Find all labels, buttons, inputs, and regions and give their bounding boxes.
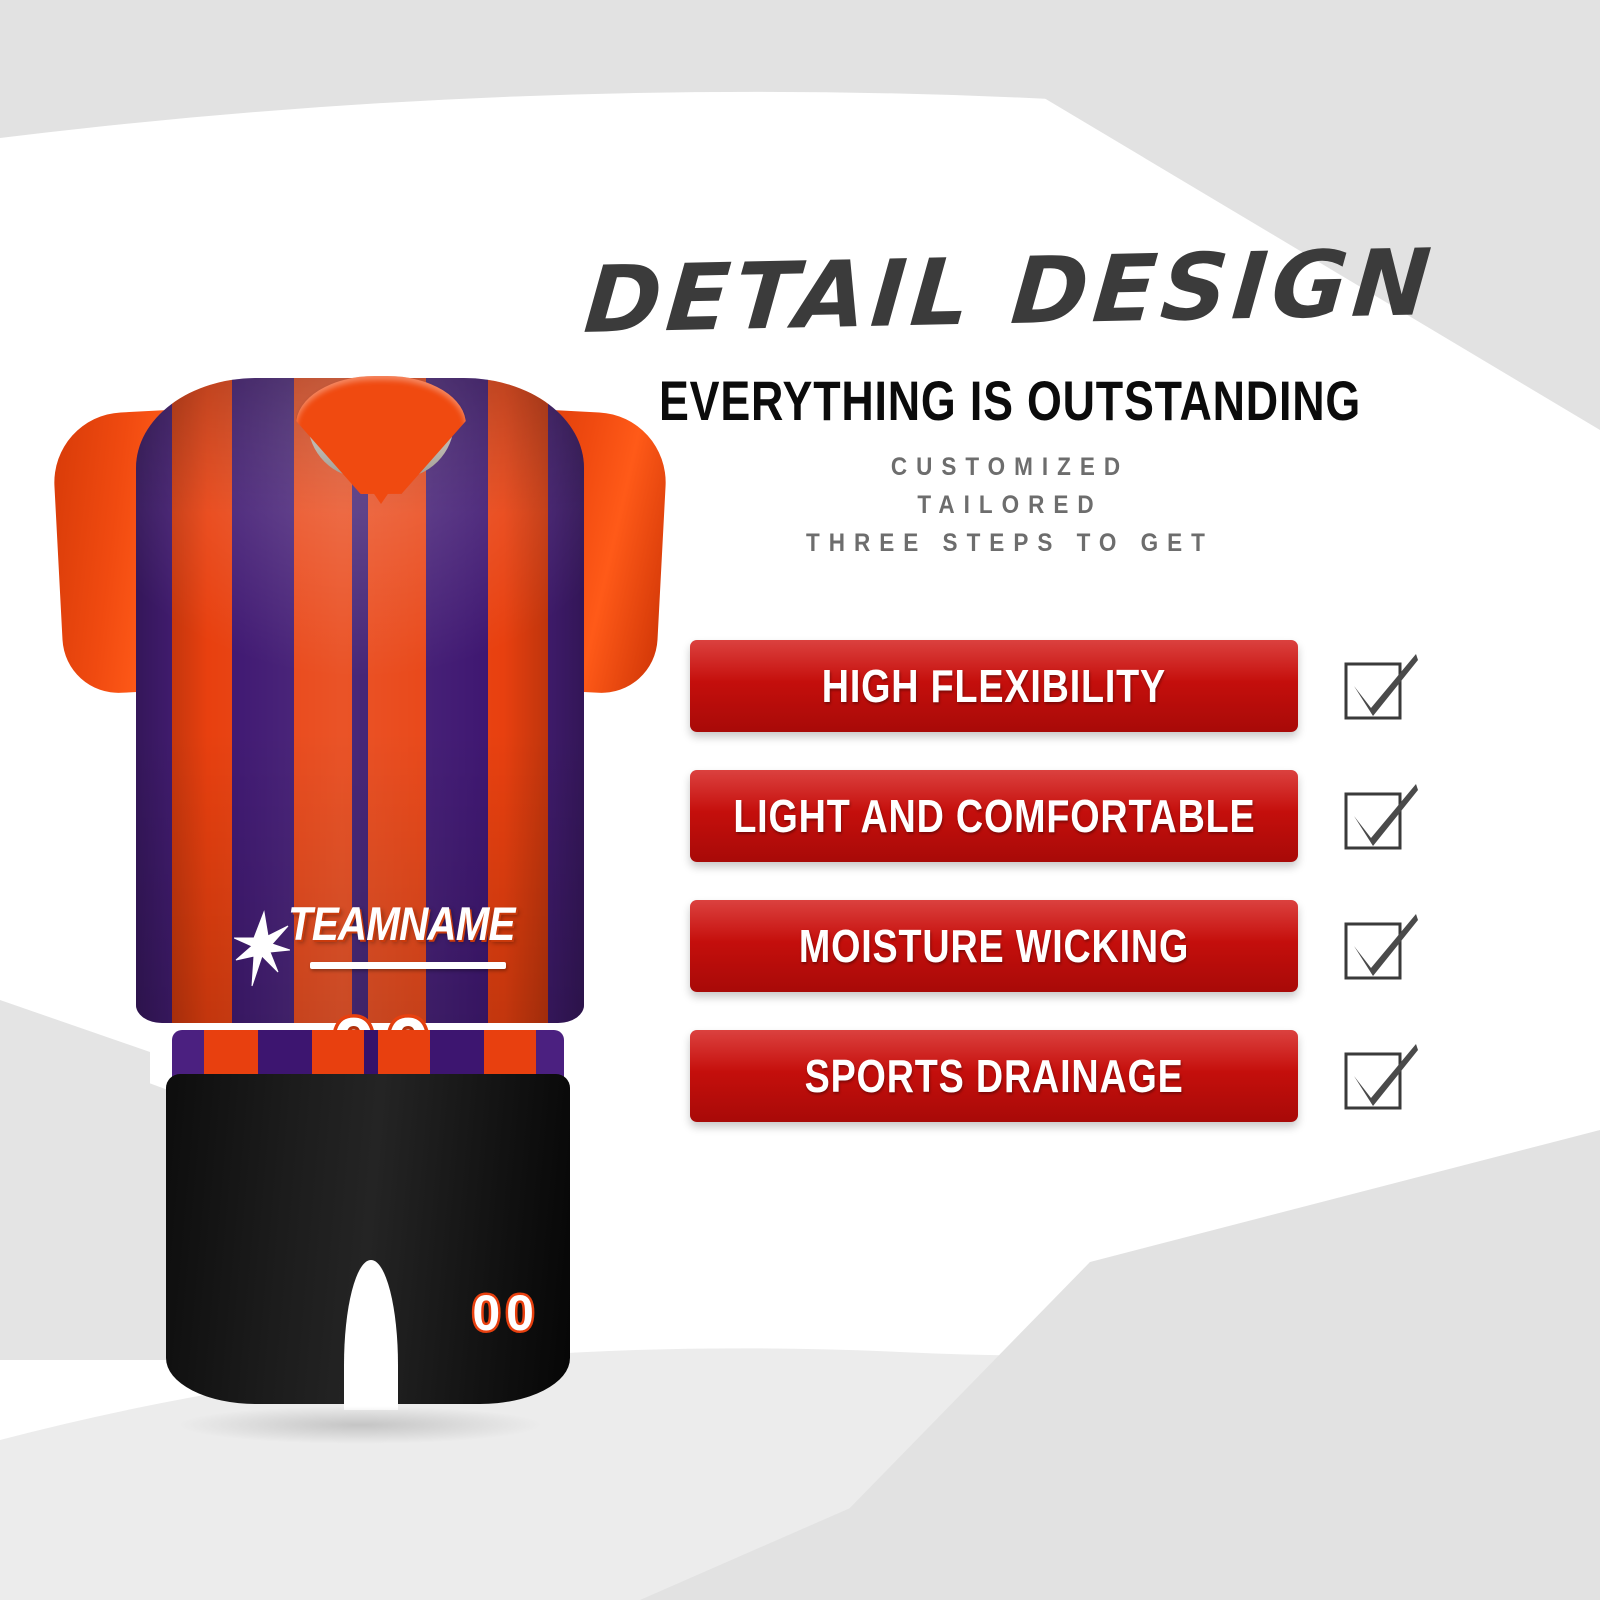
headline: DETAIL DESIGN: [555, 229, 1466, 355]
star-logo-icon: [234, 910, 290, 988]
feature-row: SPORTS DRAINAGE: [690, 1022, 1480, 1152]
feature-label: LIGHT AND COMFORTABLE: [733, 789, 1255, 843]
shorts-body: 00: [166, 1074, 570, 1404]
shorts: 00: [158, 1030, 578, 1420]
feature-label: HIGH FLEXIBILITY: [822, 659, 1166, 713]
feature-bar-moisture-wicking[interactable]: MOISTURE WICKING: [690, 900, 1298, 992]
product-drop-shadow: [100, 1398, 620, 1452]
checkbox-checked-icon[interactable]: [1340, 650, 1420, 726]
tagline-1: CUSTOMIZED: [605, 448, 1415, 486]
subheadline: EVERYTHING IS OUTSTANDING: [650, 368, 1370, 433]
feature-label: MOISTURE WICKING: [799, 919, 1189, 973]
jersey-team-underline: [310, 962, 506, 969]
shorts-inseam-gap: [344, 1260, 398, 1410]
feature-bar-high-flexibility[interactable]: HIGH FLEXIBILITY: [690, 640, 1298, 732]
feature-row: MOISTURE WICKING: [690, 892, 1480, 1022]
feature-row: HIGH FLEXIBILITY: [690, 632, 1480, 762]
product-feature-poster: TEAMNAME 00 00 DETAIL DESIGN EVERYTHING …: [0, 0, 1600, 1600]
tagline-2: TAILORED: [605, 486, 1415, 524]
tagline-3: THREE STEPS TO GET: [605, 524, 1415, 562]
checkbox-checked-icon[interactable]: [1340, 910, 1420, 986]
feature-bar-sports-drainage[interactable]: SPORTS DRAINAGE: [690, 1030, 1298, 1122]
checkbox-checked-icon[interactable]: [1340, 780, 1420, 856]
shorts-number: 00: [472, 1284, 540, 1342]
feature-bar-light-and-comfortable[interactable]: LIGHT AND COMFORTABLE: [690, 770, 1298, 862]
feature-list: HIGH FLEXIBILITY LIGHT AND COMFORTABLE: [690, 632, 1480, 1152]
checkbox-checked-icon[interactable]: [1340, 1040, 1420, 1116]
content-panel: DETAIL DESIGN EVERYTHING IS OUTSTANDING …: [560, 0, 1600, 1600]
tagline-list: CUSTOMIZED TAILORED THREE STEPS TO GET: [560, 448, 1460, 562]
feature-label: SPORTS DRAINAGE: [804, 1049, 1183, 1103]
feature-row: LIGHT AND COMFORTABLE: [690, 762, 1480, 892]
jersey-team-name: TEAMNAME: [288, 896, 515, 951]
